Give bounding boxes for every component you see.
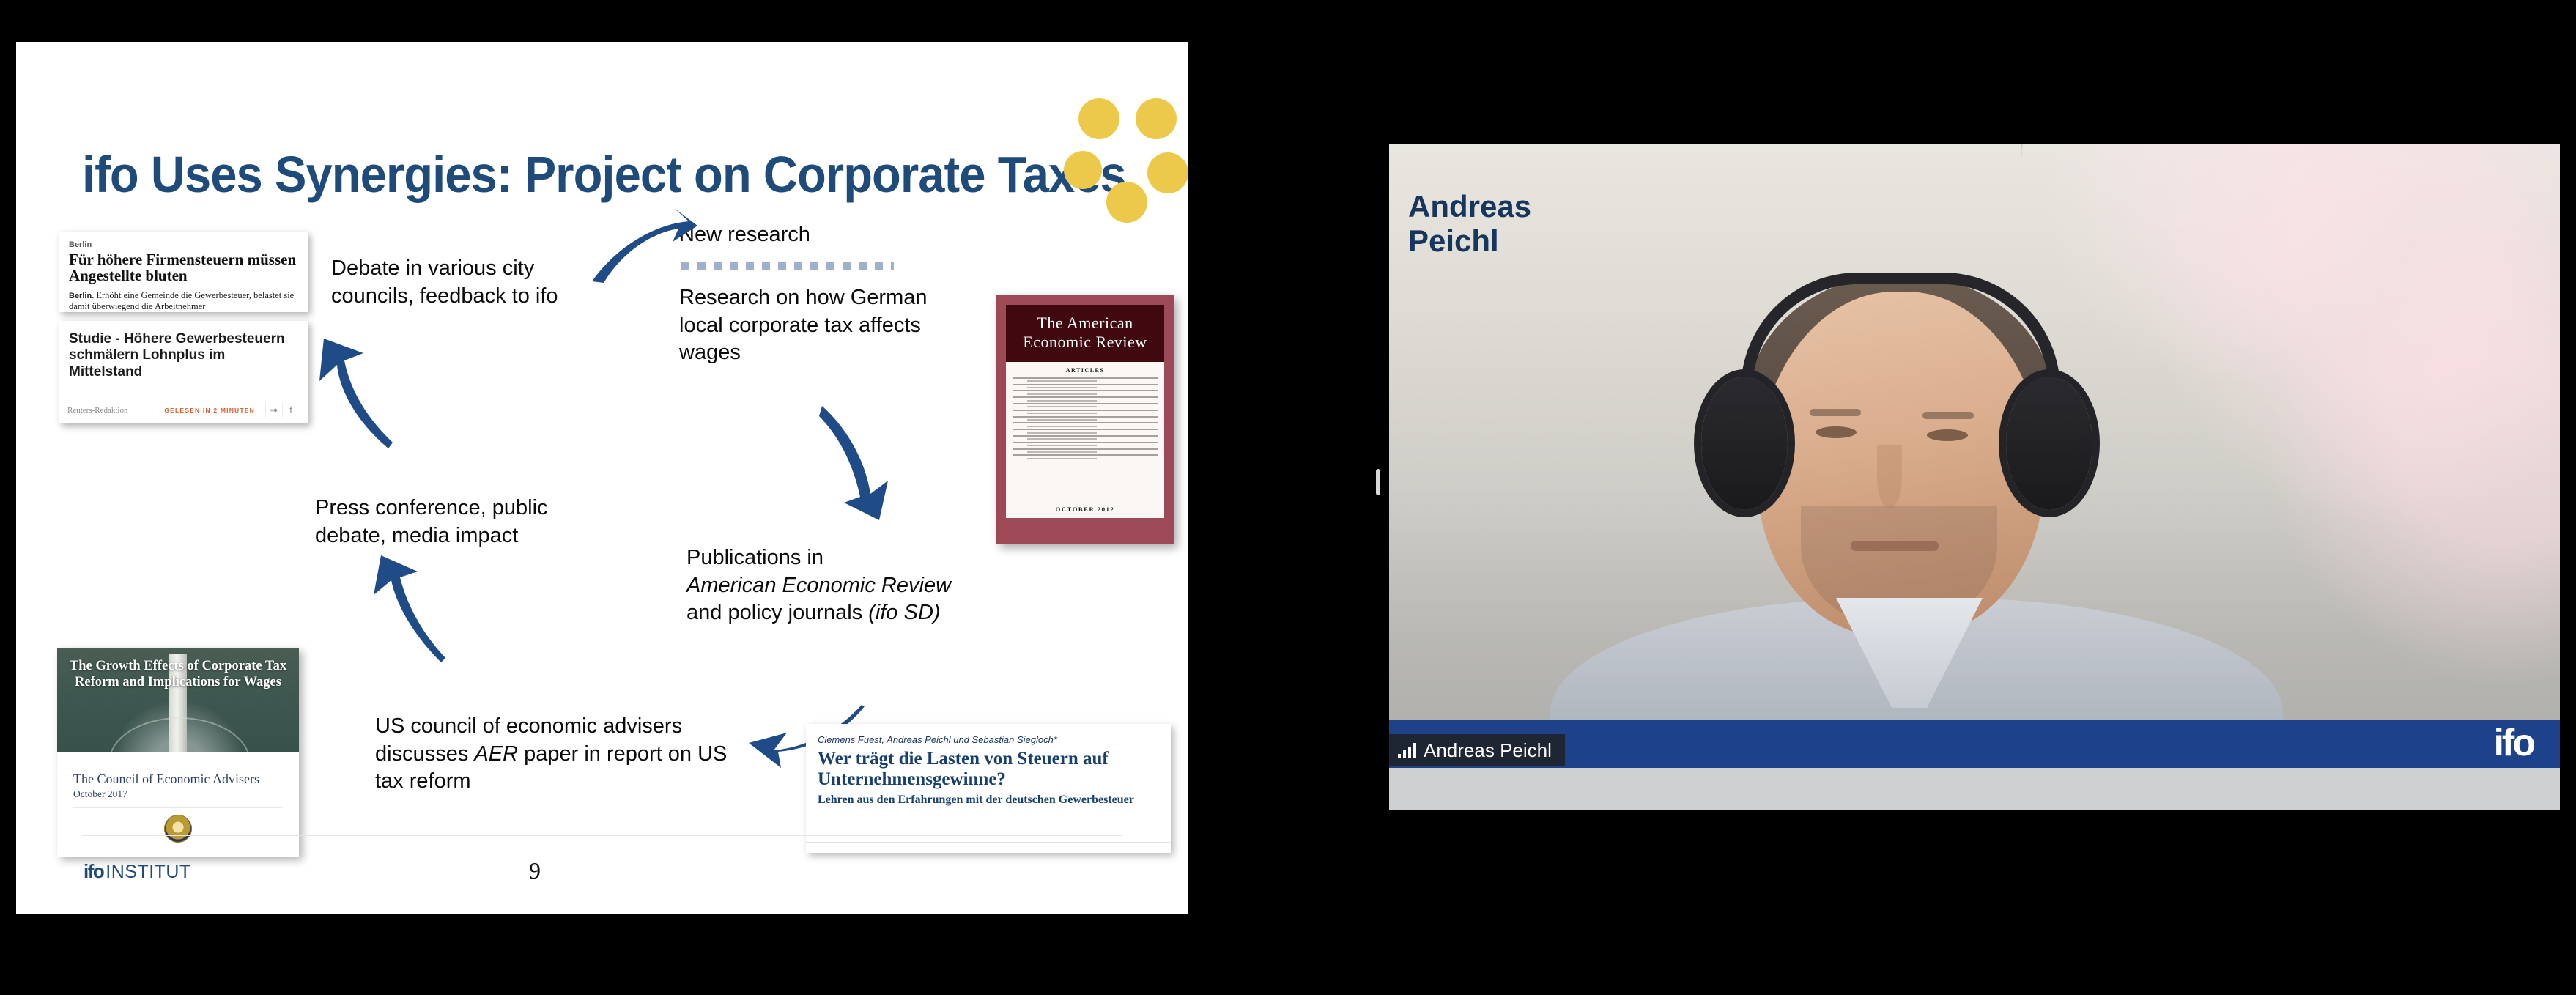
meeting-screen: ifo Uses Synergies: Project on Corporate… [0, 0, 2576, 995]
cea-date: October 2017 [73, 788, 283, 800]
speaker-eye-right [1927, 429, 1968, 441]
headphone-earcup-right-icon [2006, 377, 2092, 510]
ifo-institut-logo: ifo INSTITUT [84, 860, 191, 883]
arrow-up-right-to-research [588, 205, 697, 286]
aer-line [1027, 406, 1097, 407]
ifo-sd-article-clipping[interactable]: Clemens Fuest, Andreas Peichl und Sebast… [806, 724, 1171, 853]
panel-resize-handle[interactable] [1376, 469, 1380, 495]
ifo-logo-video: ifo [2493, 724, 2534, 762]
aer-line [1013, 416, 1158, 418]
speaker-brow-left [1810, 409, 1861, 416]
decor-dot [1078, 98, 1119, 139]
aer-title-line1: The American [1037, 314, 1133, 332]
speaker-eye-left [1816, 426, 1857, 438]
facebook-icon[interactable]: f [282, 402, 299, 418]
ifosd-headline: Wer trägt die Lasten von Steuern auf Unt… [818, 749, 1159, 790]
cea-organization: The Council of Economic Advisers [73, 772, 283, 787]
aer-line [1027, 400, 1097, 402]
speaker-nose [1877, 445, 1902, 508]
news-lede-dateline: Berlin. [69, 292, 94, 300]
aer-line [1027, 445, 1097, 446]
us-council-aer: AER [474, 742, 518, 766]
slide-footer: ifo INSTITUT 9 [16, 847, 1188, 914]
shared-slide[interactable]: ifo Uses Synergies: Project on Corporate… [16, 42, 1188, 914]
headphones-band-icon [1741, 273, 2060, 390]
aer-line [1013, 396, 1158, 398]
footer-divider [82, 835, 1122, 836]
news-kicker: Berlin [69, 240, 297, 249]
cea-report-cover[interactable]: The Growth Effects of Corporate Tax Refo… [57, 648, 299, 857]
arrow-up-to-debate [306, 336, 401, 453]
aer-line [1027, 426, 1097, 427]
yellow-dot-decoration [1036, 84, 1182, 223]
decor-dot [1106, 182, 1147, 223]
headphone-earcup-left-icon [1701, 377, 1788, 510]
aer-line [1027, 438, 1097, 440]
aer-contents-lines [1013, 377, 1158, 502]
aer-line [1027, 458, 1097, 459]
aer-line [1013, 435, 1158, 437]
publications-journal: American Economic Review [686, 574, 951, 597]
flow-label-debate: Debate in various city councils, feedbac… [331, 255, 588, 310]
us-presidential-seal-icon [164, 815, 192, 843]
news-readtime: GELESEN IN 2 MINUTEN [164, 407, 255, 414]
flow-label-press: Press conference, public debate, media i… [315, 495, 579, 550]
decor-dot [1064, 151, 1102, 189]
aer-line [1013, 377, 1158, 379]
video-bottom-strip [1389, 768, 2560, 810]
speaker-video-tile[interactable]: Andreas Peichl ifo Andreas Peichl [1389, 144, 2560, 810]
ifosd-authors: Clemens Fuest, Andreas Peichl und Sebast… [818, 734, 1159, 745]
aer-contents: ARTICLES OCTOBER 2012 [1006, 362, 1164, 518]
aer-line [1027, 380, 1097, 382]
ifo-logo-word: INSTITUT [106, 862, 191, 883]
publications-ifosd: (ifo SD) [868, 601, 940, 624]
decor-dot [1136, 98, 1177, 139]
aer-line [1013, 442, 1158, 443]
page-title: ifo Uses Synergies: Project on Corporate… [82, 145, 1126, 204]
news-byline: Reuters-Redaktion [67, 406, 127, 415]
aer-line [1013, 422, 1158, 423]
video-overlay-speaker-name: Andreas Peichl [1408, 189, 1531, 258]
aer-line [1013, 454, 1158, 456]
flow-label-publications: Publications in American Economic Review… [686, 544, 994, 627]
overlay-name-line1: Andreas [1408, 189, 1531, 223]
news-footer: Reuters-Redaktion GELESEN IN 2 MINUTEN ➟… [59, 396, 308, 423]
aer-line [1013, 448, 1158, 450]
ifosd-rule [806, 842, 1171, 843]
arrow-down-right-to-publications [815, 402, 903, 526]
dashed-separator [681, 262, 894, 270]
aer-line [1027, 387, 1097, 388]
publications-line3: and policy journals [686, 601, 868, 624]
slide-page-number: 9 [529, 857, 541, 884]
twitter-icon[interactable]: ➟ [265, 402, 282, 418]
aer-title: The American Economic Review [1006, 305, 1164, 362]
news-clipping-handelsblatt[interactable]: Berlin Für höhere Firmensteuern müssen A… [59, 232, 308, 312]
cea-title: The Growth Effects of Corporate Tax Refo… [57, 658, 299, 690]
news-clipping-reuters[interactable]: Studie - Höhere Gewerbesteuern schmälern… [59, 321, 308, 423]
cea-cover-photo: The Growth Effects of Corporate Tax Refo… [57, 648, 299, 752]
ifo-logo-mark: ifo [84, 860, 103, 883]
flow-label-new-research: New research [679, 221, 810, 249]
aer-line [1013, 410, 1158, 411]
audio-level-icon [1398, 743, 1416, 758]
aer-line [1013, 384, 1158, 385]
aer-line [1013, 390, 1158, 391]
cea-meta: The Council of Economic Advisers October… [57, 752, 299, 848]
aer-line [1013, 403, 1158, 404]
ifosd-subheadline: Lehren aus den Erfahrungen mit der deuts… [818, 793, 1159, 807]
aer-issue-date: OCTOBER 2012 [1013, 502, 1158, 513]
participant-name: Andreas Peichl [1424, 739, 1552, 762]
news-lede: Berlin. Erhöht eine Gemeinde die Gewerbe… [69, 290, 297, 312]
aer-line [1027, 393, 1097, 395]
flow-label-research-detail: Research on how German local corporate t… [679, 284, 958, 367]
overlay-name-line2: Peichl [1408, 223, 1499, 258]
publications-line1: Publications in [686, 546, 823, 569]
aer-line [1027, 413, 1097, 414]
aer-line [1027, 419, 1097, 421]
news-lede-text: Erhöht eine Gemeinde die Gewerbesteuer, … [69, 290, 294, 311]
cea-seal-wrap [73, 807, 283, 843]
speaker-brow-right [1922, 412, 1974, 419]
decor-dot [1147, 152, 1188, 193]
aer-line [1013, 429, 1158, 430]
news-headline: Für höhere Firmensteuern müssen Angestel… [69, 251, 297, 284]
aer-line [1027, 432, 1097, 434]
participant-name-badge[interactable]: Andreas Peichl [1389, 734, 1565, 766]
aer-title-line2: Economic Review [1023, 333, 1147, 351]
aer-line [1027, 451, 1097, 453]
arrow-up-left-to-press [353, 555, 448, 665]
flow-label-us-council: US council of economic advisers discusse… [375, 713, 741, 796]
news-headline: Studie - Höhere Gewerbesteuern schmälern… [69, 331, 297, 380]
aer-section-heading: ARTICLES [1013, 367, 1158, 374]
aer-journal-cover[interactable]: The American Economic Review ARTICLES [996, 295, 1174, 544]
speaker-mouth [1851, 541, 1939, 551]
